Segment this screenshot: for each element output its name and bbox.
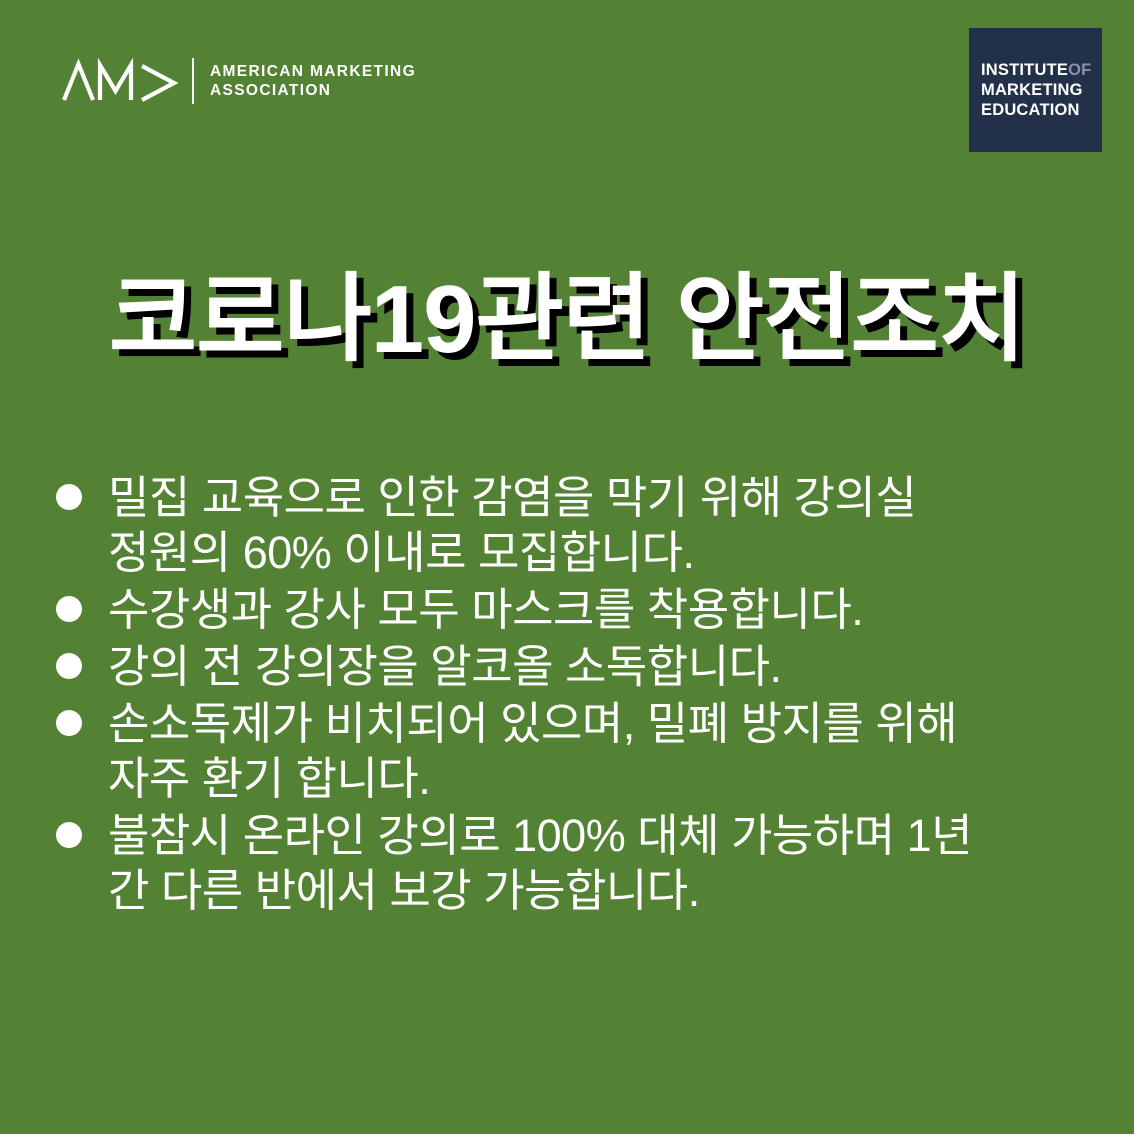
ama-wordmark-line-1: AMERICAN MARKETING xyxy=(210,62,416,81)
bullet-dot-icon xyxy=(56,653,82,679)
list-item: 불참시 온라인 강의로 100% 대체 가능하며 1년 간 다른 반에서 보강 … xyxy=(56,808,1086,918)
bullet-dot-icon xyxy=(56,596,82,622)
bullet-dot-icon xyxy=(56,710,82,736)
list-item-line: 간 다른 반에서 보강 가능합니다. xyxy=(108,863,1086,918)
list-item: 강의 전 강의장을 알코올 소독합니다. xyxy=(56,639,1086,694)
slide-canvas: AMERICAN MARKETING ASSOCIATION INSTITUTE… xyxy=(0,0,1134,1134)
list-item: 수강생과 강사 모두 마스크를 착용합니다. xyxy=(56,582,1086,637)
list-item-line: 자주 환기 합니다. xyxy=(108,751,1086,806)
list-item-text: 강의 전 강의장을 알코올 소독합니다. xyxy=(108,639,1086,694)
list-item-text: 밀집 교육으로 인한 감염을 막기 위해 강의실 정원의 60% 이내로 모집합… xyxy=(108,470,1086,580)
badge-line-3: EDUCATION xyxy=(981,100,1102,120)
list-item-line: 강의 전 강의장을 알코올 소독합니다. xyxy=(108,639,1086,694)
safety-measures-list: 밀집 교육으로 인한 감염을 막기 위해 강의실 정원의 60% 이내로 모집합… xyxy=(56,470,1086,920)
list-item-line: 손소독제가 비치되어 있으며, 밀폐 방지를 위해 xyxy=(108,696,1086,751)
list-item-text: 불참시 온라인 강의로 100% 대체 가능하며 1년 간 다른 반에서 보강 … xyxy=(108,808,1086,918)
bullet-dot-icon xyxy=(56,484,82,510)
list-item-text: 손소독제가 비치되어 있으며, 밀폐 방지를 위해 자주 환기 합니다. xyxy=(108,696,1086,806)
institute-of-marketing-education-badge: INSTITUTEOF MARKETING EDUCATION xyxy=(969,28,1102,152)
ama-chevron-mark-icon xyxy=(62,58,180,104)
list-item-text: 수강생과 강사 모두 마스크를 착용합니다. xyxy=(108,582,1086,637)
list-item-line: 수강생과 강사 모두 마스크를 착용합니다. xyxy=(108,582,1086,637)
ama-logo: AMERICAN MARKETING ASSOCIATION xyxy=(62,52,416,110)
list-item-line: 정원의 60% 이내로 모집합니다. xyxy=(108,525,1086,580)
list-item-line: 밀집 교육으로 인한 감염을 막기 위해 강의실 xyxy=(108,470,1086,525)
badge-of-text: OF xyxy=(1068,61,1091,79)
badge-line-2: MARKETING xyxy=(981,80,1102,100)
ama-wordmark-line-2: ASSOCIATION xyxy=(210,81,416,100)
badge-institute-text: INSTITUTE xyxy=(981,61,1068,79)
list-item: 밀집 교육으로 인한 감염을 막기 위해 강의실 정원의 60% 이내로 모집합… xyxy=(56,470,1086,580)
ama-wordmark: AMERICAN MARKETING ASSOCIATION xyxy=(210,62,416,100)
bullet-dot-icon xyxy=(56,822,82,848)
logo-divider xyxy=(192,58,194,104)
page-title: 코로나19관련 안전조치 xyxy=(0,265,1134,375)
list-item-line: 불참시 온라인 강의로 100% 대체 가능하며 1년 xyxy=(108,808,1086,863)
badge-line-1: INSTITUTEOF xyxy=(981,60,1102,80)
list-item: 손소독제가 비치되어 있으며, 밀폐 방지를 위해 자주 환기 합니다. xyxy=(56,696,1086,806)
